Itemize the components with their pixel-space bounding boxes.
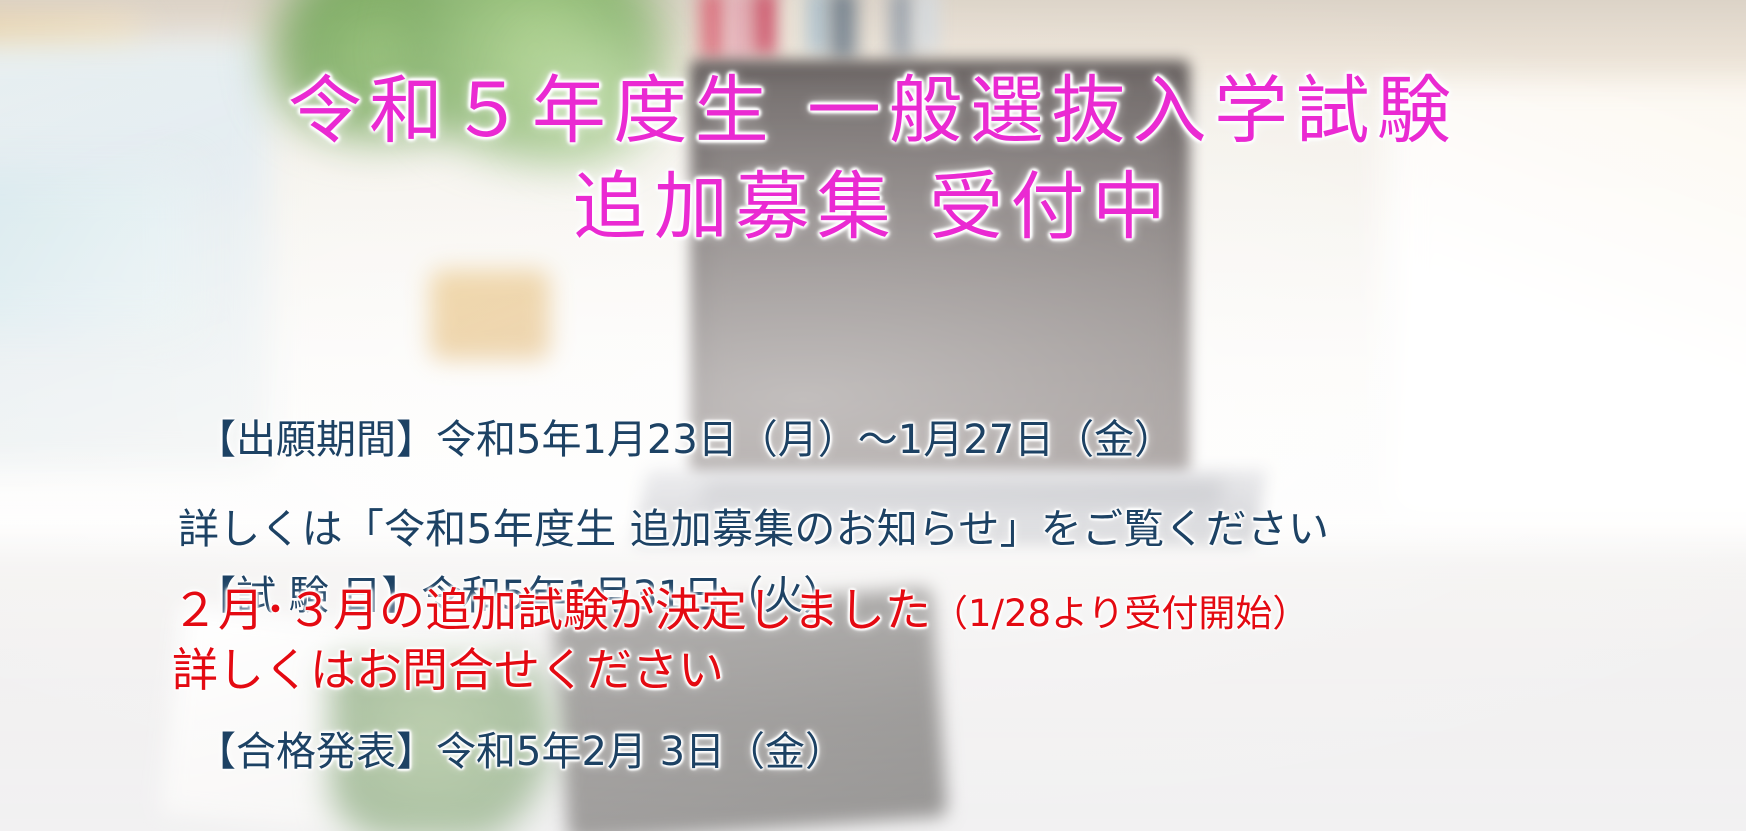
- schedule-row-results: 【合格発表】令和5年2月 3日（金）: [196, 726, 1174, 778]
- notice-text: 詳しくは「令和5年度生 追加募集のお知らせ」をご覧ください: [178, 505, 1329, 554]
- headline-line-2: 追加募集 受付中: [0, 168, 1746, 248]
- schedule-block: 【出願期間】令和5年1月23日（月）～1月27日（金） 【試 験 日】令和5年1…: [196, 310, 1174, 831]
- alert-line-1: ２月･３月の追加試験が決定しました（1/28より受付開始）: [172, 583, 1309, 637]
- schedule-row-application: 【出願期間】令和5年1月23日（月）～1月27日（金）: [196, 414, 1174, 466]
- alert-block: ２月･３月の追加試験が決定しました（1/28より受付開始） 詳しくはお問合せくだ…: [172, 583, 1309, 698]
- alert-line-2: 詳しくはお問合せください: [172, 643, 1309, 697]
- headline-block: 令和５年度生 一般選抜入学試験 追加募集 受付中: [0, 72, 1746, 248]
- banner-content: 令和５年度生 一般選抜入学試験 追加募集 受付中 【出願期間】令和5年1月23日…: [0, 0, 1746, 831]
- alert-line-1-paren: （1/28より受付開始）: [931, 592, 1309, 635]
- promotional-banner: 令和５年度生 一般選抜入学試験 追加募集 受付中 【出願期間】令和5年1月23日…: [0, 0, 1746, 831]
- alert-line-1-main: ２月･３月の追加試験が決定しました: [172, 583, 931, 637]
- headline-line-1: 令和５年度生 一般選抜入学試験: [0, 72, 1746, 152]
